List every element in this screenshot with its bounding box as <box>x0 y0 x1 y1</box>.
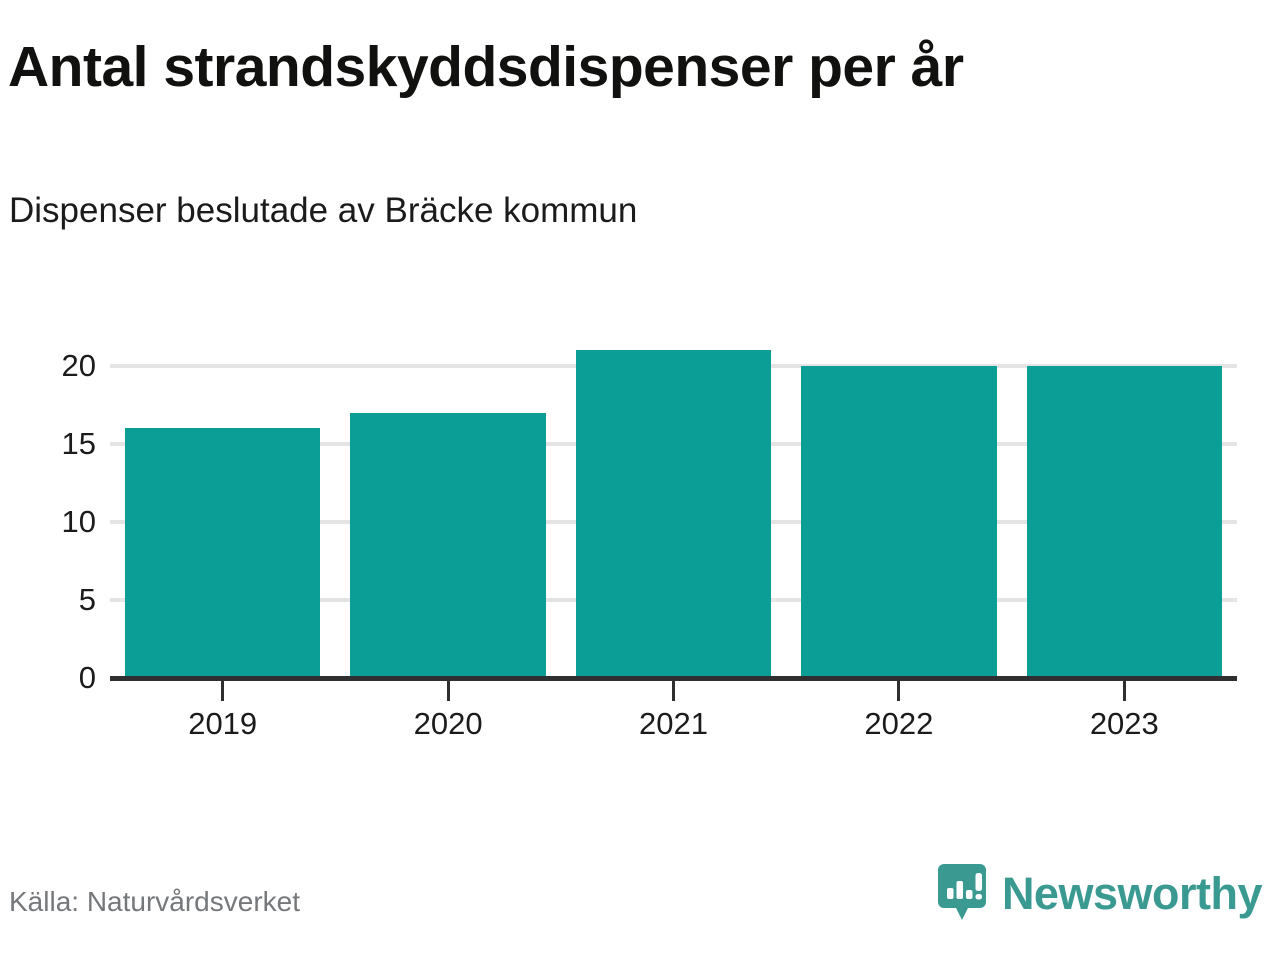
x-tick-label-2019: 2019 <box>188 706 257 742</box>
bar-2020 <box>350 413 545 678</box>
x-tick-2023 <box>1123 681 1126 701</box>
x-tick-2019 <box>221 681 224 701</box>
x-tick-2022 <box>897 681 900 701</box>
bar-2022 <box>801 366 996 678</box>
bar-2023 <box>1027 366 1222 678</box>
y-tick-label: 10 <box>0 504 96 540</box>
y-tick-label: 15 <box>0 426 96 462</box>
y-tick-label: 20 <box>0 348 96 384</box>
x-tick-2021 <box>672 681 675 701</box>
y-tick-label: 5 <box>0 582 96 618</box>
chart-page: Antal strandskyddsdispenser per år Dispe… <box>0 0 1280 960</box>
x-tick-label-2021: 2021 <box>639 706 708 742</box>
brand-name: Newsworthy <box>1002 871 1262 916</box>
newsworthy-logo: Newsworthy <box>936 862 1262 924</box>
x-tick-2020 <box>447 681 450 701</box>
y-tick-label: 0 <box>0 660 96 696</box>
bar-chart-plot: 05101520 20192020202120222023 <box>0 0 1280 960</box>
bar-2021 <box>576 350 771 678</box>
bar-2019 <box>125 428 320 678</box>
y-axis-labels: 05101520 <box>0 0 96 960</box>
x-tick-label-2022: 2022 <box>864 706 933 742</box>
source-note: Källa: Naturvårdsverket <box>9 886 300 918</box>
x-tick-label-2023: 2023 <box>1090 706 1159 742</box>
x-tick-label-2020: 2020 <box>414 706 483 742</box>
bar-chart-speech-bubble-icon <box>936 862 988 924</box>
